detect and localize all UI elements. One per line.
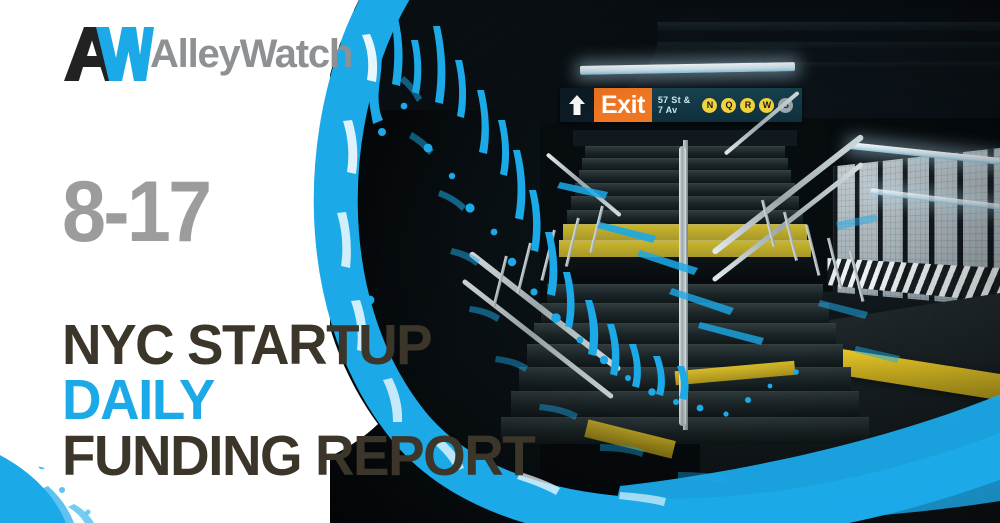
subway-bullet-q: Q — [721, 98, 736, 113]
exit-destination-line2: 7 Av — [658, 105, 691, 115]
logo-wordmark: AlleyWatch — [150, 34, 352, 74]
headline-line-1: NYC STARTUP — [62, 318, 534, 373]
headline-line-2: DAILY — [62, 373, 534, 428]
subway-bullet-n: N — [702, 98, 717, 113]
aw-monogram-icon — [62, 25, 154, 83]
center-handrail — [679, 146, 686, 426]
subway-bullet-r: R — [740, 98, 755, 113]
headline-block: NYC STARTUP DAILY FUNDING REPORT — [62, 318, 554, 484]
headline-line-3: FUNDING REPORT — [62, 429, 534, 484]
date-label: 8-17 — [62, 174, 209, 251]
alleywatch-banner: Exit 57 St & 7 Av N Q R W S — [0, 0, 1000, 523]
up-arrow-icon — [560, 88, 594, 122]
subway-line-bullets: N Q R W S — [698, 88, 802, 122]
staircase — [525, 130, 845, 430]
alleywatch-logo[interactable]: AlleyWatch — [62, 24, 352, 84]
right-rail-bar — [827, 238, 842, 289]
exit-destination-line1: 57 St & — [658, 95, 691, 105]
exit-destination: 57 St & 7 Av — [652, 88, 699, 122]
exit-label: Exit — [594, 88, 652, 122]
